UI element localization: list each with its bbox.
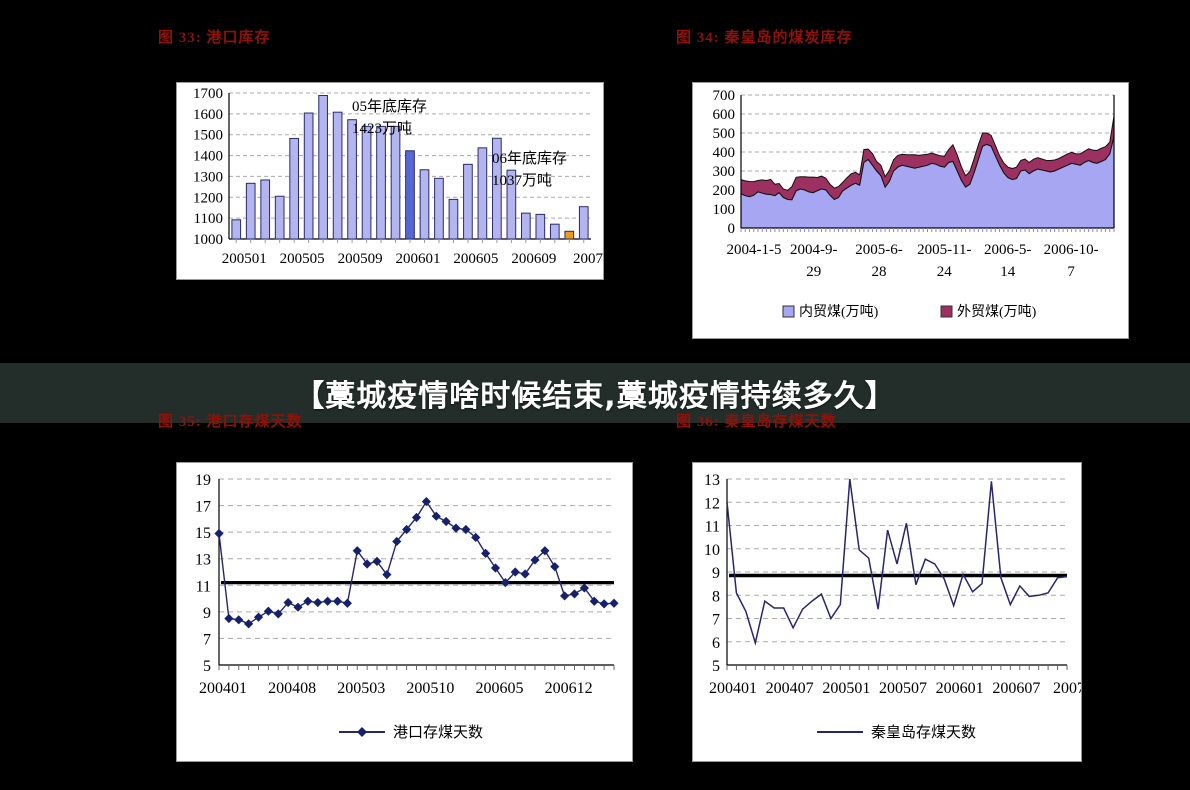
- bar: [377, 126, 386, 239]
- x-tick-label: 20070: [1053, 680, 1081, 697]
- x-tick-label: 200601: [396, 251, 441, 267]
- bar: [246, 183, 255, 239]
- annotation-2005: 05年底库存: [352, 98, 427, 115]
- legend-label-inner: 内贸煤(万吨): [799, 304, 879, 320]
- data-point-marker: [343, 599, 352, 608]
- data-point-marker: [570, 589, 579, 598]
- y-tick-label: 1200: [193, 190, 223, 206]
- data-point-marker: [600, 599, 609, 608]
- y-tick-label: 7: [203, 631, 211, 648]
- figure-33-title: 图 33: 港口库存: [158, 26, 271, 47]
- x-tick-label: 2005-6-: [855, 242, 903, 258]
- data-point-marker: [234, 615, 243, 624]
- bar: [550, 224, 559, 239]
- annotation-2005: 1423万吨: [352, 120, 412, 137]
- bar: [261, 180, 270, 239]
- figure-33-svg: 1000110012001300140015001600170020050120…: [177, 83, 603, 279]
- figure-34-svg: 01002003004005006007002004-1-52004-9-292…: [693, 83, 1128, 338]
- y-tick-label: 13: [195, 552, 211, 569]
- x-tick-label: 200401: [199, 680, 247, 697]
- bar: [362, 126, 371, 239]
- data-point-marker: [550, 562, 559, 571]
- legend-label: 港口存煤天数: [393, 724, 483, 741]
- y-tick-label: 1000: [193, 232, 223, 248]
- bar: [333, 112, 342, 239]
- data-point-marker: [481, 549, 490, 558]
- y-tick-label: 11: [705, 519, 720, 536]
- y-tick-label: 5: [203, 658, 211, 675]
- figure-36-chart: 5678910111213200401200407200501200507200…: [692, 462, 1082, 762]
- x-tick-label: 24: [937, 264, 953, 280]
- data-point-marker: [590, 597, 599, 606]
- bar: [536, 214, 545, 239]
- bar: [348, 120, 357, 239]
- data-point-marker: [442, 517, 451, 526]
- legend-swatch-inner: [783, 306, 794, 317]
- y-tick-label: 8: [712, 588, 720, 605]
- data-point-marker: [313, 598, 322, 607]
- bar: [290, 138, 299, 239]
- y-tick-label: 600: [713, 107, 736, 123]
- data-point-marker: [214, 529, 223, 538]
- x-tick-label: 200503: [337, 680, 385, 697]
- data-point-marker: [293, 603, 302, 612]
- legend-marker: [357, 727, 367, 737]
- y-tick-label: 200: [713, 183, 736, 199]
- y-tick-label: 13: [704, 472, 720, 489]
- legend-label: 秦皇岛存煤天数: [871, 724, 976, 741]
- x-tick-label: 2004-9-: [790, 242, 838, 258]
- y-tick-label: 10: [704, 542, 720, 559]
- x-tick-label: 200509: [338, 251, 383, 267]
- x-tick-label: 7: [1067, 264, 1075, 280]
- x-tick-label: 200501: [222, 251, 267, 267]
- bar: [275, 196, 284, 239]
- y-tick-label: 700: [713, 88, 736, 104]
- data-point-marker: [609, 599, 618, 608]
- figure-35-title: 图 35: 港口存煤天数: [158, 410, 303, 431]
- x-tick-label: 200510: [406, 680, 454, 697]
- x-tick-label: 200607: [992, 680, 1040, 697]
- bar: [391, 126, 400, 239]
- x-tick-label: 200605: [453, 251, 498, 267]
- x-tick-label: 14: [1000, 264, 1016, 280]
- bar: [406, 151, 415, 239]
- bar: [579, 207, 588, 239]
- bar: [304, 113, 313, 239]
- data-point-marker: [491, 563, 500, 572]
- y-tick-label: 300: [713, 164, 736, 180]
- y-tick-label: 400: [713, 145, 736, 161]
- y-tick-label: 7: [712, 612, 720, 629]
- data-point-marker: [422, 497, 431, 506]
- data-point-marker: [254, 613, 263, 622]
- y-tick-label: 11: [196, 578, 211, 595]
- figure-33-chart: 1000110012001300140015001600170020050120…: [176, 82, 604, 280]
- annotation-2006: 1037万吨: [492, 172, 552, 189]
- data-point-marker: [224, 614, 233, 623]
- y-tick-label: 1100: [194, 211, 223, 227]
- legend-swatch-outer: [941, 306, 952, 317]
- y-tick-label: 1600: [193, 107, 223, 123]
- bar: [319, 96, 328, 239]
- figure-36-title: 图 36: 秦皇岛存煤天数: [676, 410, 837, 431]
- bar: [420, 170, 429, 239]
- figure-35-chart: 5791113151719200401200408200503200510200…: [176, 462, 633, 762]
- y-tick-label: 0: [728, 221, 736, 237]
- annotation-2006: 06年底库存: [492, 150, 567, 167]
- figure-36-svg: 5678910111213200401200407200501200507200…: [693, 463, 1081, 761]
- y-tick-label: 5: [712, 658, 720, 675]
- x-tick-label: 200408: [268, 680, 316, 697]
- x-tick-label: 200609: [511, 251, 556, 267]
- y-tick-label: 1500: [193, 128, 223, 144]
- y-tick-label: 1700: [193, 86, 223, 102]
- x-tick-label: 200407: [766, 680, 814, 697]
- y-tick-label: 9: [203, 605, 211, 622]
- data-point-marker: [303, 597, 312, 606]
- figure-34-chart: 01002003004005006007002004-1-52004-9-292…: [692, 82, 1129, 339]
- x-tick-label: 200507: [879, 680, 927, 697]
- x-tick-label: 29: [806, 264, 821, 280]
- bar: [449, 199, 458, 239]
- x-tick-label: 200605: [476, 680, 524, 697]
- data-point-marker: [264, 607, 273, 616]
- y-tick-label: 12: [704, 495, 720, 512]
- y-tick-label: 9: [712, 565, 720, 582]
- data-point-marker: [333, 597, 342, 606]
- y-tick-label: 17: [195, 499, 211, 516]
- data-point-marker: [521, 569, 530, 578]
- x-tick-label: 2005-11-: [917, 242, 971, 258]
- y-tick-label: 15: [195, 525, 211, 542]
- figure-35-svg: 5791113151719200401200408200503200510200…: [177, 463, 632, 761]
- x-tick-label: 2006-5-: [984, 242, 1032, 258]
- y-tick-label: 100: [713, 202, 736, 218]
- bar: [478, 148, 487, 239]
- data-point-marker: [432, 512, 441, 521]
- x-tick-label: 2004-1-5: [727, 242, 782, 258]
- y-tick-label: 19: [195, 472, 211, 489]
- x-tick-label: 2006-10-: [1044, 242, 1099, 258]
- x-tick-label: 28: [872, 264, 887, 280]
- y-tick-label: 1300: [193, 169, 223, 185]
- bar: [521, 213, 530, 239]
- bar: [435, 178, 444, 239]
- y-tick-label: 1400: [193, 149, 223, 165]
- y-tick-label: 6: [712, 635, 720, 652]
- x-tick-label: 200505: [280, 251, 325, 267]
- data-point-marker: [560, 591, 569, 600]
- x-tick-label: 200601: [936, 680, 984, 697]
- x-tick-label: 200401: [709, 680, 757, 697]
- page-root: 图 33: 港口库存 10001100120013001400150016001…: [0, 0, 1190, 790]
- data-point-marker: [323, 597, 332, 606]
- bar: [232, 220, 241, 239]
- legend-label-outer: 外贸煤(万吨): [957, 304, 1037, 320]
- x-tick-label: 200501: [822, 680, 870, 697]
- data-point-marker: [244, 619, 253, 628]
- bar: [565, 231, 574, 239]
- figure-34-title: 图 34: 秦皇岛的煤炭库存: [676, 26, 853, 47]
- bar: [464, 164, 473, 239]
- x-tick-label: 200612: [545, 680, 593, 697]
- x-tick-label: 20070: [573, 251, 603, 267]
- y-tick-label: 500: [713, 126, 736, 142]
- data-point-marker: [451, 524, 460, 533]
- banner-title: 【藁城疫情啥时候结束,藁城疫情持续多久】: [294, 371, 895, 415]
